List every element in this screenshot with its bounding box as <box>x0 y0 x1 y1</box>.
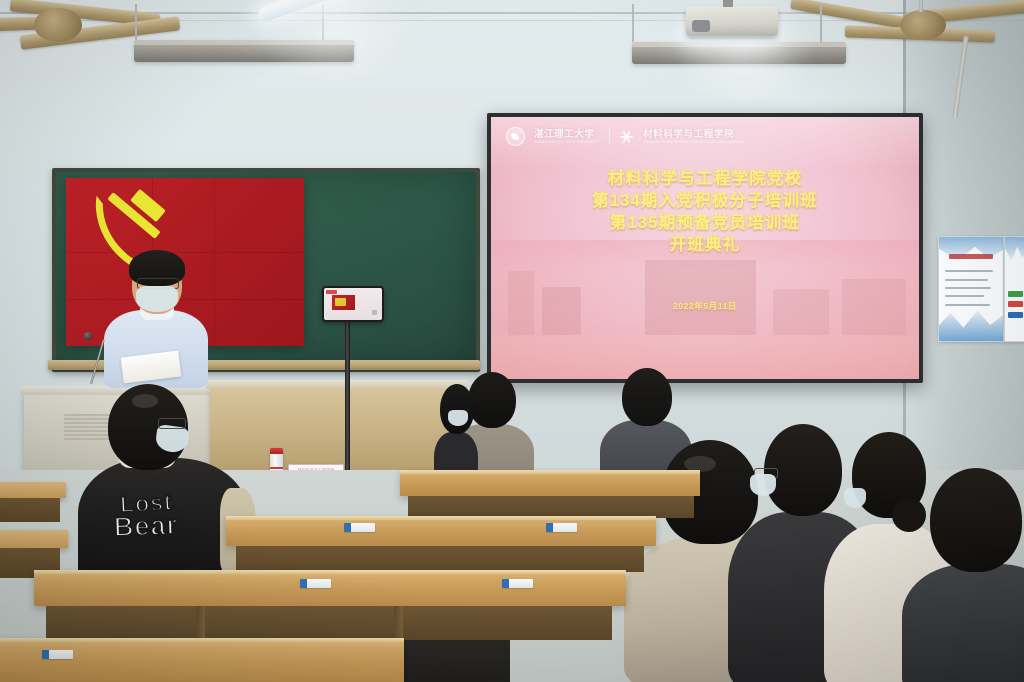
notice-poster-left <box>938 236 1004 342</box>
phone-screen <box>324 288 382 320</box>
bench-leg <box>394 606 403 640</box>
bench-row-2-under <box>46 606 612 640</box>
bottle-cap <box>270 448 283 454</box>
bench-row-3 <box>226 516 656 546</box>
slide-logo-row: 湛江理工大学 ZHANJIANG SCI-TECH UNIVERSITY 材料科… <box>506 127 744 146</box>
bench-row-3-under <box>236 546 644 572</box>
teacher-desk-top <box>206 380 468 389</box>
poster-wave-top <box>939 237 1003 264</box>
college-name-en: SCHOOL OF MATERIALS SCIENCE AND ENGINEER… <box>643 140 744 144</box>
poster-wave-bottom <box>939 306 1003 341</box>
university-name-en: ZHANJIANG SCI-TECH UNIVERSITY <box>534 140 600 144</box>
audience-body <box>902 564 1024 682</box>
projector-mount <box>723 0 733 7</box>
jacket-logo: Lost Bear <box>90 484 202 548</box>
slide-photo-plaza <box>491 337 919 379</box>
logo-divider <box>609 129 610 144</box>
ceiling-projector <box>686 6 778 36</box>
phone-preview-flag <box>332 295 355 310</box>
university-seal-icon <box>506 127 525 146</box>
audience-head <box>622 368 672 426</box>
side-desk-upper-under <box>0 498 60 522</box>
audience-head <box>930 468 1022 572</box>
teacher-desk <box>210 388 462 476</box>
audience-member-right-edge <box>920 468 1024 682</box>
bench-row-1 <box>0 638 404 682</box>
college-name-cn: 材料科学与工程学院 <box>643 130 744 140</box>
slide-date: 2022年5月11日 <box>491 300 919 312</box>
audience-face-mask <box>448 410 468 426</box>
seat-number-tag <box>42 650 73 659</box>
student-lost-bear: Lost Bear <box>92 384 222 596</box>
speaker <box>108 246 204 376</box>
phone-record-indicator[interactable] <box>326 290 336 294</box>
university-name-cn: 湛江理工大学 <box>534 130 600 140</box>
seat-number-tag <box>300 579 331 588</box>
side-desk-upper <box>0 482 66 498</box>
college-emblem-icon <box>619 129 634 144</box>
poster2-wave-top <box>1005 237 1024 264</box>
phone-ui-button[interactable] <box>372 310 377 314</box>
seat-number-tag <box>546 523 577 532</box>
presentation-slide: 湛江理工大学 ZHANJIANG SCI-TECH UNIVERSITY 材料科… <box>491 117 919 379</box>
seat-number-tag <box>344 523 375 532</box>
bench-row-4-under <box>408 496 694 518</box>
bench-row-2 <box>34 570 626 606</box>
notice-poster-right <box>1004 236 1024 342</box>
bench-leg <box>196 606 205 640</box>
audience-head <box>468 372 516 428</box>
microphone-head <box>84 332 92 340</box>
audience-member-back-left-partner <box>434 382 474 482</box>
poster-heading <box>949 254 993 259</box>
side-desk-lower <box>0 530 68 548</box>
seat-number-tag <box>502 579 533 588</box>
projection-screen: 湛江理工大学 ZHANJIANG SCI-TECH UNIVERSITY 材料科… <box>487 113 923 383</box>
classroom-photo: 湛江理工大学 ZHANJIANG SCI-TECH UNIVERSITY 材料科… <box>0 0 1024 682</box>
speaker-face-mask <box>136 286 178 312</box>
audience-face-mask <box>844 488 866 508</box>
slide-title: 材料科学与工程学院党校 第134期入党积极分子培训班 第135期预备党员培训班 … <box>491 169 919 257</box>
jacket-text-line2: Bear <box>114 513 179 541</box>
smartphone-recorder <box>322 286 384 322</box>
projector-lens <box>692 20 710 32</box>
audience-head <box>440 384 474 434</box>
student-glasses <box>158 418 186 429</box>
audience-face-mask <box>750 474 776 496</box>
bench-row-4 <box>400 470 700 496</box>
